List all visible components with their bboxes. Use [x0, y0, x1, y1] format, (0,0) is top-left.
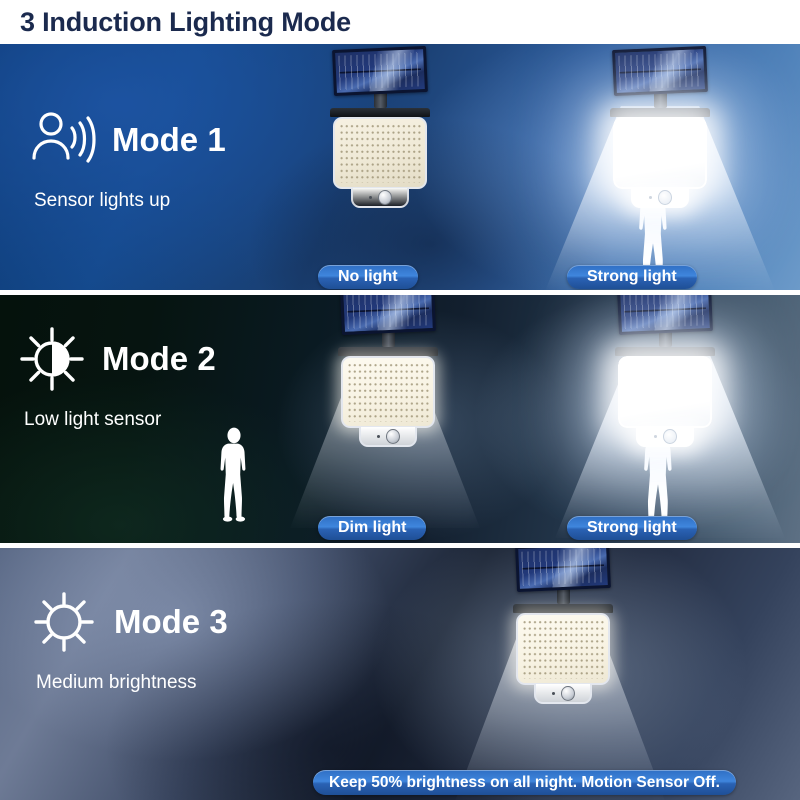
person-motion-sensor-icon	[26, 104, 98, 176]
pir-sensor-icon	[658, 190, 672, 205]
infographic-page: 3 Induction Lighting Mode Mode 1 Sensor …	[0, 0, 800, 800]
sensor-housing	[631, 188, 689, 208]
mounting-neck	[557, 588, 570, 604]
mode-3-badge-keep-brightness[interactable]: Keep 50% brightness on all night. Motion…	[313, 770, 736, 795]
mounting-bracket	[338, 347, 438, 356]
indicator-dot-icon	[654, 435, 657, 438]
sensor-housing	[534, 684, 592, 704]
mode-1-badge-strong-light[interactable]: Strong light	[567, 265, 697, 289]
mode-3-label-block: Mode 3 Medium brightness	[28, 586, 228, 694]
solar-panel	[612, 46, 708, 96]
mode-2-name: Mode 2	[102, 340, 216, 378]
mode-1-label-block: Mode 1 Sensor lights up	[26, 104, 226, 212]
sensor-housing	[351, 188, 409, 208]
mode-1-description: Sensor lights up	[26, 190, 226, 212]
row-divider-2	[0, 543, 800, 548]
pir-sensor-icon	[386, 429, 400, 444]
led-panel	[341, 356, 435, 428]
mode-3-fixture-medium	[513, 548, 613, 704]
title-bar: 3 Induction Lighting Mode	[0, 0, 800, 44]
led-panel	[618, 356, 712, 428]
mode-3-row: Mode 3 Medium brightness Keep 50% bright…	[0, 548, 800, 800]
mode-2-description: Low light sensor	[16, 409, 216, 431]
indicator-dot-icon	[649, 196, 652, 199]
indicator-dot-icon	[377, 435, 380, 438]
mode-3-description: Medium brightness	[28, 672, 228, 694]
indicator-dot-icon	[552, 692, 555, 695]
mode-2-label-block: Mode 2 Low light sensor	[16, 323, 216, 431]
mode-2-fixture-on	[615, 295, 715, 447]
mode-1-badge-no-light[interactable]: No light	[318, 265, 418, 289]
led-panel	[613, 117, 707, 189]
led-head	[618, 356, 712, 447]
led-head	[516, 613, 610, 704]
mode-1-fixture-on	[610, 48, 710, 208]
pir-sensor-icon	[561, 686, 575, 701]
sensor-housing	[636, 427, 694, 447]
sun-outline-icon	[28, 586, 100, 658]
solar-panel	[617, 295, 713, 335]
mode-2-badge-strong-light[interactable]: Strong light	[567, 516, 697, 540]
mode-1-row: Mode 1 Sensor lights up	[0, 44, 800, 290]
mounting-bracket	[615, 347, 715, 356]
led-head	[613, 117, 707, 208]
mode-2-fixture-dim	[338, 295, 438, 447]
mode-3-name: Mode 3	[114, 603, 228, 641]
solar-panel	[340, 295, 436, 335]
led-panel	[333, 117, 427, 189]
mounting-neck	[659, 331, 672, 347]
pir-sensor-icon	[663, 429, 677, 444]
mode-2-person-silhouette	[214, 427, 254, 522]
page-title: 3 Induction Lighting Mode	[0, 7, 351, 38]
led-head	[333, 117, 427, 208]
row-divider-1	[0, 290, 800, 295]
mode-2-row: Mode 2 Low light sensor	[0, 295, 800, 543]
half-brightness-sun-icon	[16, 323, 88, 395]
mode-2-badge-dim-light[interactable]: Dim light	[318, 516, 426, 540]
mounting-bracket	[330, 108, 430, 117]
mounting-bracket	[513, 604, 613, 613]
mounting-neck	[654, 92, 667, 108]
mounting-bracket	[610, 108, 710, 117]
sensor-housing	[359, 427, 417, 447]
led-head	[341, 356, 435, 447]
indicator-dot-icon	[369, 196, 372, 199]
mode-1-fixture-off	[330, 48, 430, 208]
mounting-neck	[382, 331, 395, 347]
solar-panel	[515, 548, 611, 592]
mounting-neck	[374, 92, 387, 108]
mode-1-name: Mode 1	[112, 121, 226, 159]
solar-panel	[332, 46, 428, 96]
led-panel	[516, 613, 610, 685]
pir-sensor-icon	[378, 190, 392, 205]
